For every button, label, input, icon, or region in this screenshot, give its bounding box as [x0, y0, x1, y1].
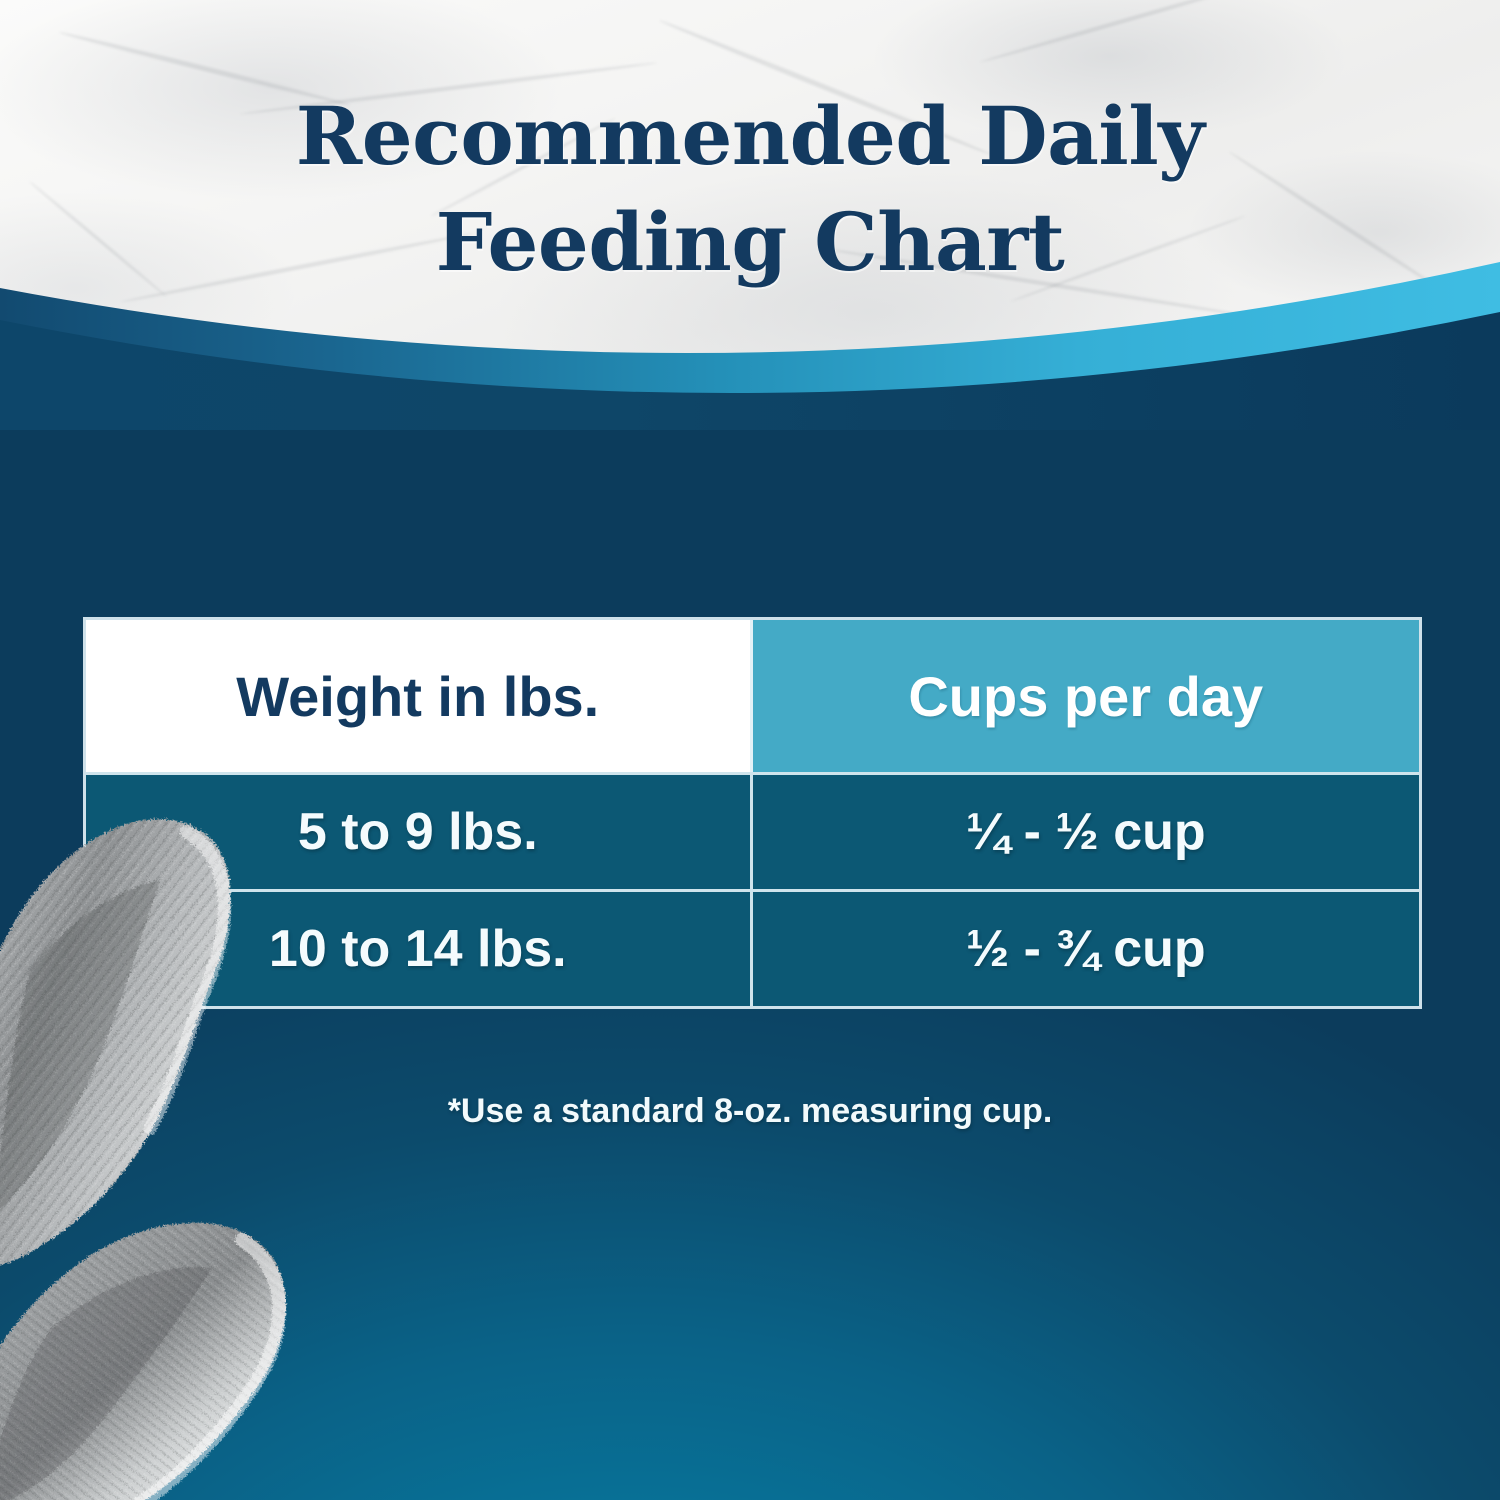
- cell-cups-amount: ¼ - ½ cup: [753, 772, 1420, 889]
- column-header-weight: Weight in lbs.: [86, 620, 753, 772]
- feeding-chart-graphic: Recommended Daily Feeding Chart Weight i…: [0, 0, 1500, 1500]
- cat-paw-lower: [0, 1223, 286, 1500]
- table-header-row: Weight in lbs. Cups per day: [86, 620, 1419, 772]
- column-header-cups: Cups per day: [753, 620, 1420, 772]
- cell-cups-amount: ½ - ¾ cup: [753, 889, 1420, 1006]
- table-row: 10 to 14 lbs. ½ - ¾ cup: [86, 889, 1419, 1006]
- table-row: 5 to 9 lbs. ¼ - ½ cup: [86, 772, 1419, 889]
- page-title-line-2: Feeding Chart: [0, 190, 1500, 296]
- feeding-table: Weight in lbs. Cups per day 5 to 9 lbs. …: [86, 620, 1419, 1006]
- cell-weight-range: 5 to 9 lbs.: [86, 772, 753, 889]
- page-title: Recommended Daily Feeding Chart: [0, 84, 1500, 295]
- cell-weight-range: 10 to 14 lbs.: [86, 889, 753, 1006]
- footnote-text: *Use a standard 8-oz. measuring cup.: [0, 1092, 1500, 1131]
- page-title-line-1: Recommended Daily: [0, 84, 1500, 190]
